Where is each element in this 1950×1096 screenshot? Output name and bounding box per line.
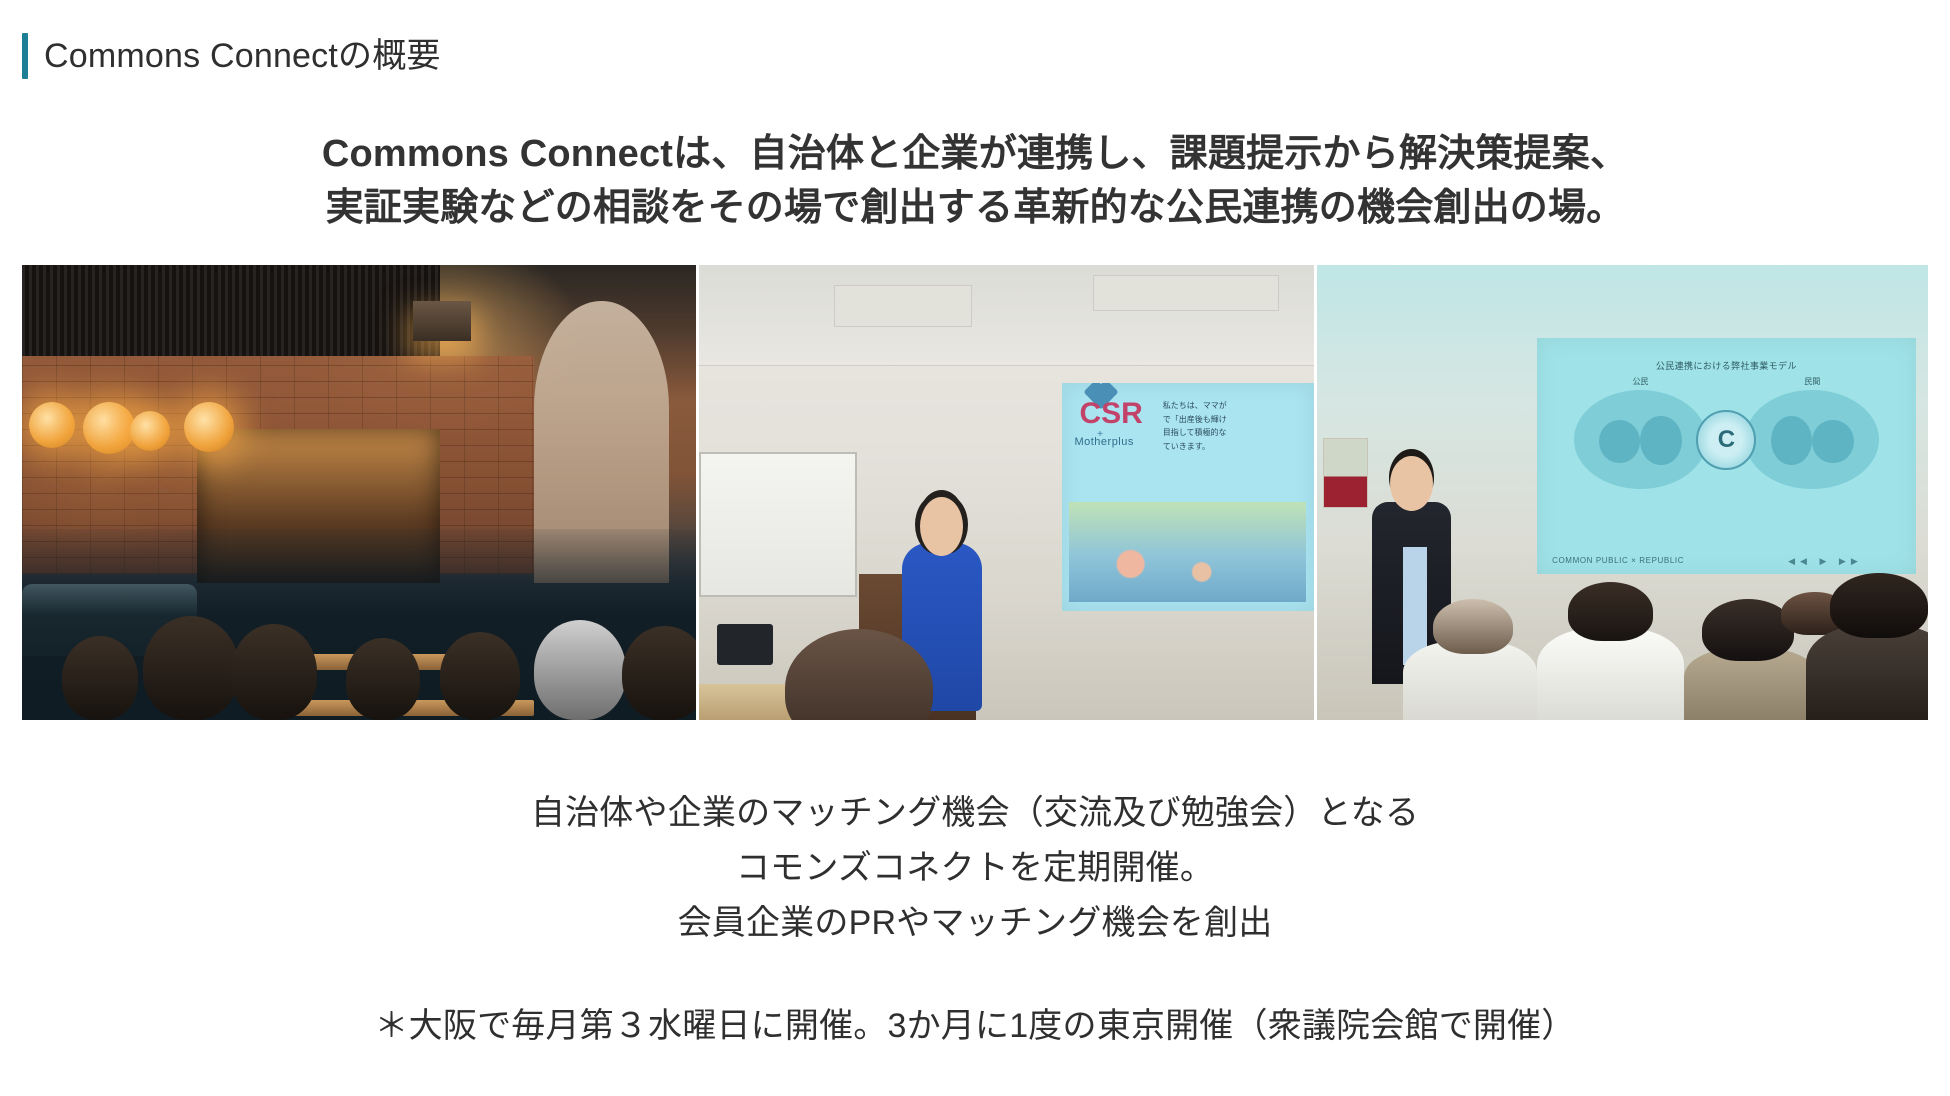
ceiling (699, 265, 1314, 366)
headline-line-1: Commons Connectは、自治体と企業が連携し、課題提示から解決策提案、 (0, 128, 1950, 182)
slide-title-text: 公民連携における弊社事業モデル (1537, 359, 1916, 372)
slide-body-text: 私たちは、ママが で「出産後も輝け 目指して積極的な ていきます。 (1163, 399, 1307, 453)
audience-head (1568, 582, 1654, 641)
venn-diagram: 公民 民間 C (1567, 390, 1885, 489)
person-head (440, 632, 520, 720)
speaker-head (1390, 456, 1433, 511)
audience-head (1830, 573, 1928, 639)
wall-poster (1323, 438, 1368, 508)
audience-shirt (1806, 625, 1928, 720)
audience-head (1702, 599, 1794, 661)
projection-screen: 公民連携における弊社事業モデル 公民 民間 C COMMON PUBLIC × … (1537, 338, 1916, 575)
photo-woman-presenting: CSR + Motherplus 私たちは、ママが で「出産後も輝け 目指して積… (699, 265, 1314, 720)
ceiling-grid (22, 265, 440, 356)
whiteboard (699, 452, 857, 597)
person-head (143, 616, 239, 720)
title-accent-bar (22, 33, 28, 79)
ceiling-tile (834, 285, 971, 327)
headline: Commons Connectは、自治体と企業が連携し、課題提示から解決策提案、… (0, 128, 1950, 236)
projection-screen: CSR + Motherplus 私たちは、ママが で「出産後も輝け 目指して積… (1062, 383, 1314, 611)
camera-icon (717, 624, 772, 665)
person-head (622, 626, 696, 720)
venn-bubble (1640, 416, 1681, 466)
slide-canvas: Commons Connectの概要 Commons Connectは、自治体と… (0, 0, 1950, 1096)
headline-line-2: 実証実験などの相談をその場で創出する革新的な公民連携の機会創出の場。 (0, 182, 1950, 236)
slide-photo (1069, 502, 1306, 602)
person-head (534, 620, 626, 720)
pendant-lamp-icon (184, 402, 234, 452)
slide-title-text: Commons Connectの概要 (44, 39, 441, 73)
person-head (346, 638, 420, 720)
pendant-light-fixture (413, 301, 471, 341)
photo-networking-event (22, 265, 696, 720)
pendant-lamp-icon (130, 411, 170, 451)
body-copy-line-3: 会員企業のPRやマッチング機会を創出 (0, 896, 1950, 951)
csr-logo-text: CSR (1080, 399, 1143, 429)
venn-bubble (1812, 420, 1853, 464)
audience-foreground (1317, 556, 1928, 720)
audience-head (1433, 599, 1512, 655)
motherplus-text: Motherplus (1074, 436, 1133, 448)
ceiling-tile (1093, 275, 1280, 311)
center-logo-mark: C (1696, 410, 1756, 470)
body-copy-line-1: 自治体や企業のマッチング機会（交流及び勉強会）となる (0, 786, 1950, 841)
pendant-lamp-icon (29, 402, 75, 448)
body-copy: 自治体や企業のマッチング機会（交流及び勉強会）となる コモンズコネクトを定期開催… (0, 786, 1950, 951)
photo-man-presenting: 公民連携における弊社事業モデル 公民 民間 C COMMON PUBLIC × … (1317, 265, 1928, 720)
person-head (62, 636, 138, 720)
slide-title: Commons Connectの概要 (22, 30, 441, 82)
pendant-lamp-icon (83, 402, 135, 454)
slide-header-area: CSR + Motherplus 私たちは、ママが で「出産後も輝け 目指して積… (1062, 383, 1314, 497)
note-line: ＊大阪で毎月第３水曜日に開催。3か月に1度の東京開催（衆議院会館で開催） (0, 998, 1950, 1047)
audience-shirt (1537, 628, 1684, 720)
person-head (231, 624, 317, 720)
photo-strip: CSR + Motherplus 私たちは、ママが で「出産後も輝け 目指して積… (22, 265, 1928, 720)
venn-left-label: 公民 (1574, 376, 1708, 387)
venn-right-label: 民間 (1745, 376, 1879, 387)
body-copy-line-2: コモンズコネクトを定期開催。 (0, 841, 1950, 896)
crowd-foreground (22, 529, 696, 720)
